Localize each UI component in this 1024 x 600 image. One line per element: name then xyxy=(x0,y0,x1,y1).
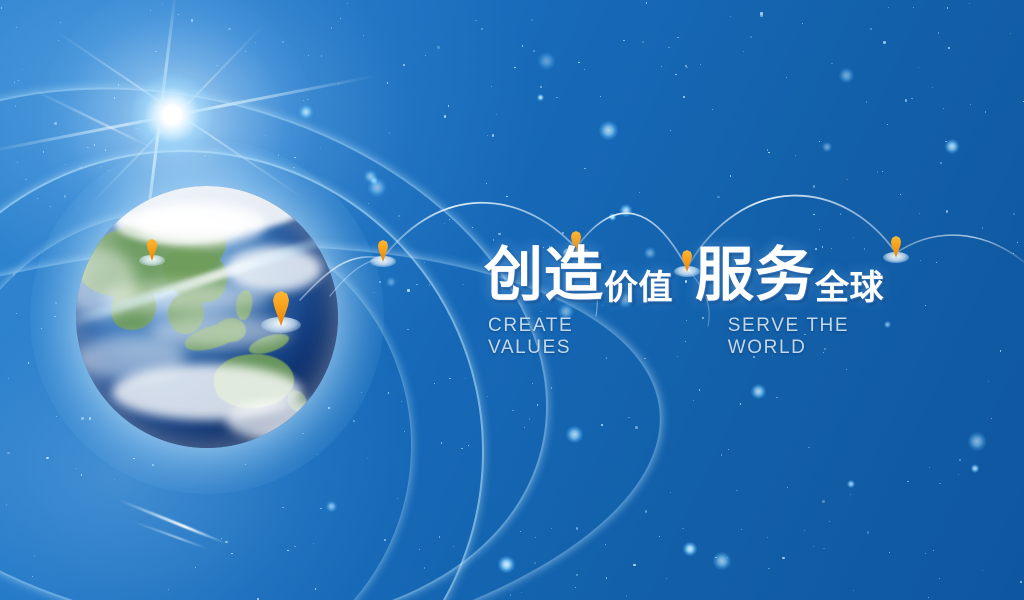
star xyxy=(150,10,151,11)
star xyxy=(54,122,56,124)
star xyxy=(491,86,492,87)
subtitle-create-values: CREATE VALUES xyxy=(488,315,646,359)
star xyxy=(642,41,644,43)
star xyxy=(850,494,851,495)
star xyxy=(802,23,803,24)
star xyxy=(600,96,601,97)
star xyxy=(946,210,948,212)
glow-star xyxy=(609,213,616,220)
star xyxy=(576,574,578,576)
star xyxy=(179,74,180,75)
star xyxy=(487,396,488,397)
star xyxy=(741,529,742,530)
star xyxy=(626,595,627,596)
star xyxy=(168,589,169,590)
star xyxy=(437,46,439,48)
star xyxy=(913,7,914,8)
star xyxy=(487,135,488,136)
star xyxy=(991,418,992,419)
star xyxy=(521,592,522,593)
star xyxy=(419,549,420,550)
star xyxy=(321,55,322,56)
star xyxy=(60,22,61,23)
star xyxy=(795,155,796,156)
star xyxy=(730,175,731,176)
star xyxy=(401,401,402,402)
star xyxy=(403,64,404,65)
star xyxy=(938,32,939,33)
star xyxy=(486,183,487,184)
star xyxy=(958,474,959,475)
star xyxy=(866,101,867,102)
star xyxy=(601,424,602,425)
star xyxy=(540,86,542,88)
star xyxy=(932,87,933,88)
star xyxy=(813,546,814,547)
star xyxy=(750,36,751,37)
subtitle-row: CREATE VALUES SERVE THE WORLD xyxy=(484,315,914,359)
star xyxy=(1013,253,1014,254)
banner-hero: 创造 价值 服务 全球 CREATE VALUES SERVE THE WORL… xyxy=(0,0,1024,600)
star xyxy=(1010,33,1011,34)
star xyxy=(313,543,314,544)
glow-star xyxy=(713,552,731,570)
star xyxy=(439,536,440,537)
star xyxy=(646,2,647,3)
star xyxy=(444,223,445,224)
star xyxy=(522,45,523,46)
star xyxy=(1013,213,1015,215)
star xyxy=(25,179,26,180)
star xyxy=(16,27,17,28)
light-streak-bottom-left xyxy=(116,498,228,546)
glow-star xyxy=(368,178,386,196)
star xyxy=(948,47,950,49)
star xyxy=(177,86,178,87)
star xyxy=(575,587,576,588)
glow-star xyxy=(839,68,854,83)
star xyxy=(925,553,926,554)
star xyxy=(453,546,454,547)
star xyxy=(529,418,530,419)
star xyxy=(58,40,59,41)
star xyxy=(387,82,388,83)
star xyxy=(767,537,768,538)
glow-star xyxy=(326,501,337,512)
star xyxy=(178,14,179,15)
star xyxy=(520,531,521,532)
star xyxy=(512,410,513,411)
star xyxy=(534,562,535,563)
star xyxy=(118,84,119,85)
star xyxy=(969,3,970,4)
star xyxy=(743,51,744,52)
star xyxy=(87,147,88,148)
star xyxy=(683,96,684,97)
glow-star xyxy=(538,52,556,70)
star xyxy=(933,550,934,551)
star xyxy=(556,97,557,98)
star xyxy=(37,198,38,199)
star xyxy=(384,539,385,540)
star xyxy=(181,120,182,121)
star xyxy=(287,550,288,551)
star xyxy=(493,239,494,240)
light-streak-bottom-left-2 xyxy=(130,520,210,551)
star xyxy=(468,445,469,446)
star xyxy=(221,538,222,539)
star xyxy=(475,20,476,21)
star xyxy=(1020,581,1022,583)
star xyxy=(623,40,624,41)
star xyxy=(34,555,35,556)
globe-sphere xyxy=(76,186,338,448)
star xyxy=(407,329,408,330)
glow-star xyxy=(498,556,515,573)
star xyxy=(767,149,768,150)
star xyxy=(982,570,983,571)
star xyxy=(94,144,95,145)
star xyxy=(668,47,669,48)
star xyxy=(14,82,15,83)
star xyxy=(985,111,986,112)
star xyxy=(551,528,552,529)
star xyxy=(17,162,18,163)
star xyxy=(982,227,983,228)
star xyxy=(929,467,930,468)
star xyxy=(225,541,227,543)
headline-world: 全球 xyxy=(815,271,884,305)
star xyxy=(768,568,769,569)
star xyxy=(945,141,946,142)
star xyxy=(584,168,585,169)
star xyxy=(137,128,138,129)
star xyxy=(46,457,48,459)
star xyxy=(444,115,446,117)
star xyxy=(606,577,607,578)
star xyxy=(514,67,515,68)
star xyxy=(8,378,9,379)
star xyxy=(76,468,77,469)
star xyxy=(265,135,266,136)
star xyxy=(693,400,694,401)
glow-star xyxy=(566,426,583,443)
star xyxy=(315,588,316,589)
star xyxy=(245,51,246,52)
star xyxy=(721,454,722,455)
star xyxy=(905,99,907,101)
star xyxy=(191,19,193,21)
star xyxy=(947,7,948,8)
star xyxy=(920,260,921,261)
star xyxy=(294,157,295,158)
star xyxy=(50,206,51,207)
earth-globe xyxy=(76,186,338,448)
star xyxy=(943,108,944,109)
glow-star xyxy=(386,277,396,287)
star xyxy=(787,487,788,488)
star xyxy=(533,50,534,51)
star xyxy=(496,114,497,115)
star xyxy=(81,166,82,167)
star xyxy=(639,192,640,193)
star xyxy=(578,62,579,63)
star xyxy=(7,452,9,454)
star xyxy=(813,185,815,187)
star xyxy=(907,481,908,482)
star xyxy=(368,203,369,204)
star xyxy=(918,67,919,68)
star xyxy=(195,567,196,568)
star xyxy=(425,55,426,56)
star xyxy=(889,552,890,553)
star xyxy=(813,214,814,215)
star xyxy=(166,113,168,115)
star xyxy=(320,508,321,509)
star xyxy=(728,449,729,450)
star xyxy=(840,213,841,214)
star xyxy=(363,35,364,36)
star xyxy=(712,109,713,110)
star xyxy=(465,378,466,379)
star xyxy=(940,162,941,163)
star xyxy=(79,167,81,169)
star xyxy=(506,196,507,197)
star xyxy=(255,42,256,43)
star xyxy=(114,97,115,98)
glow-star xyxy=(971,464,980,473)
headline-create: 创造 xyxy=(484,246,604,305)
star xyxy=(208,105,209,106)
star xyxy=(81,474,82,475)
star xyxy=(670,492,671,493)
star xyxy=(347,3,348,4)
star xyxy=(584,69,585,70)
star xyxy=(715,557,716,558)
star xyxy=(936,262,937,263)
glow-star xyxy=(364,170,377,183)
glow-star xyxy=(751,384,766,399)
star xyxy=(15,105,16,106)
star xyxy=(1,7,2,8)
star xyxy=(988,381,989,382)
star xyxy=(65,164,66,165)
star xyxy=(472,227,473,228)
star xyxy=(331,27,332,28)
star xyxy=(388,392,389,393)
star xyxy=(449,378,450,379)
glow-star xyxy=(599,121,618,140)
star xyxy=(867,531,869,533)
star xyxy=(846,369,847,370)
star xyxy=(1000,350,1001,351)
star xyxy=(22,69,23,70)
star xyxy=(32,576,33,577)
star xyxy=(441,442,442,443)
star xyxy=(675,74,676,75)
star xyxy=(162,4,163,5)
star xyxy=(670,130,671,131)
star xyxy=(736,490,737,491)
star xyxy=(308,55,309,56)
star xyxy=(776,397,777,398)
star xyxy=(424,567,425,568)
star xyxy=(56,416,57,417)
star xyxy=(340,18,341,19)
star xyxy=(645,510,647,512)
star xyxy=(939,578,940,579)
glow-star xyxy=(683,542,696,555)
star xyxy=(404,431,405,432)
star xyxy=(535,537,536,538)
star xyxy=(883,41,885,43)
star xyxy=(353,420,354,421)
star xyxy=(13,273,15,275)
star xyxy=(18,80,19,81)
star xyxy=(537,404,538,405)
glow-star xyxy=(968,432,986,450)
star xyxy=(740,403,741,404)
star xyxy=(434,383,435,384)
star xyxy=(870,28,872,30)
star xyxy=(6,504,7,505)
star xyxy=(551,387,552,388)
star xyxy=(562,232,563,233)
star xyxy=(398,215,400,217)
star xyxy=(389,132,390,133)
star xyxy=(928,597,929,598)
star xyxy=(635,426,637,428)
star xyxy=(16,313,17,314)
headline-serve: 服务 xyxy=(695,246,815,305)
star xyxy=(510,594,511,595)
star xyxy=(303,100,304,101)
star xyxy=(831,63,832,64)
headline-values: 价值 xyxy=(604,271,673,305)
star xyxy=(498,233,500,235)
star xyxy=(64,195,66,197)
star xyxy=(808,447,809,448)
star xyxy=(576,527,578,529)
star xyxy=(760,12,762,14)
star xyxy=(461,448,462,449)
star xyxy=(877,171,878,172)
star xyxy=(846,179,847,180)
star xyxy=(819,229,820,230)
star xyxy=(462,284,463,285)
star xyxy=(911,98,912,99)
star xyxy=(823,548,824,549)
star xyxy=(155,51,156,52)
star xyxy=(424,262,425,263)
star xyxy=(282,507,283,508)
star xyxy=(717,196,719,198)
star xyxy=(481,28,483,30)
star xyxy=(114,479,115,480)
pin-drop-icon xyxy=(377,240,389,262)
headline-row: 创造 价值 服务 全球 xyxy=(484,246,914,305)
star xyxy=(782,557,784,559)
star xyxy=(939,483,940,484)
connection-arc-p4-tail xyxy=(896,235,1024,262)
glow-star xyxy=(822,142,832,152)
star xyxy=(307,99,308,100)
star xyxy=(338,83,339,84)
star xyxy=(666,578,667,579)
star xyxy=(959,459,960,460)
star xyxy=(727,557,728,558)
star xyxy=(633,564,635,566)
star xyxy=(686,67,687,68)
star xyxy=(659,536,660,537)
star xyxy=(294,546,295,547)
star xyxy=(43,151,44,152)
star xyxy=(760,14,762,16)
star xyxy=(531,19,532,20)
star xyxy=(429,284,430,285)
star xyxy=(786,77,787,78)
star xyxy=(282,41,284,43)
star xyxy=(730,16,731,17)
glow-star xyxy=(620,204,633,217)
star xyxy=(682,528,683,529)
star xyxy=(700,64,701,65)
light-streak-top-left xyxy=(25,85,161,153)
star xyxy=(677,37,678,38)
star xyxy=(407,289,409,291)
star xyxy=(853,590,854,591)
star xyxy=(216,65,217,66)
glow-star xyxy=(945,139,960,154)
star xyxy=(685,65,686,66)
star xyxy=(900,194,901,195)
star xyxy=(416,284,417,285)
glow-star xyxy=(299,105,313,119)
star xyxy=(661,66,662,67)
star xyxy=(605,544,606,545)
star xyxy=(100,166,101,167)
star xyxy=(822,500,824,502)
star xyxy=(829,521,830,522)
star xyxy=(231,553,232,554)
star xyxy=(919,213,920,214)
star xyxy=(448,105,449,106)
star xyxy=(887,124,888,125)
star xyxy=(367,458,368,459)
glow-star xyxy=(847,480,855,488)
star xyxy=(804,530,805,531)
star xyxy=(320,147,321,148)
star xyxy=(768,152,769,153)
star xyxy=(532,383,533,384)
star xyxy=(699,389,700,390)
star xyxy=(449,219,450,220)
star xyxy=(925,305,926,306)
star xyxy=(492,134,494,136)
glow-star xyxy=(370,176,379,185)
star xyxy=(397,498,398,499)
star xyxy=(628,417,629,418)
star xyxy=(1017,242,1018,243)
subtitle-serve-the-world: SERVE THE WORLD xyxy=(728,315,914,359)
star xyxy=(105,149,106,150)
headline-block: 创造 价值 服务 全球 CREATE VALUES SERVE THE WORL… xyxy=(484,246,914,359)
star xyxy=(524,427,525,428)
star xyxy=(853,237,854,238)
star xyxy=(228,28,230,30)
globe-rim-light xyxy=(76,186,338,448)
glow-star xyxy=(537,94,544,101)
